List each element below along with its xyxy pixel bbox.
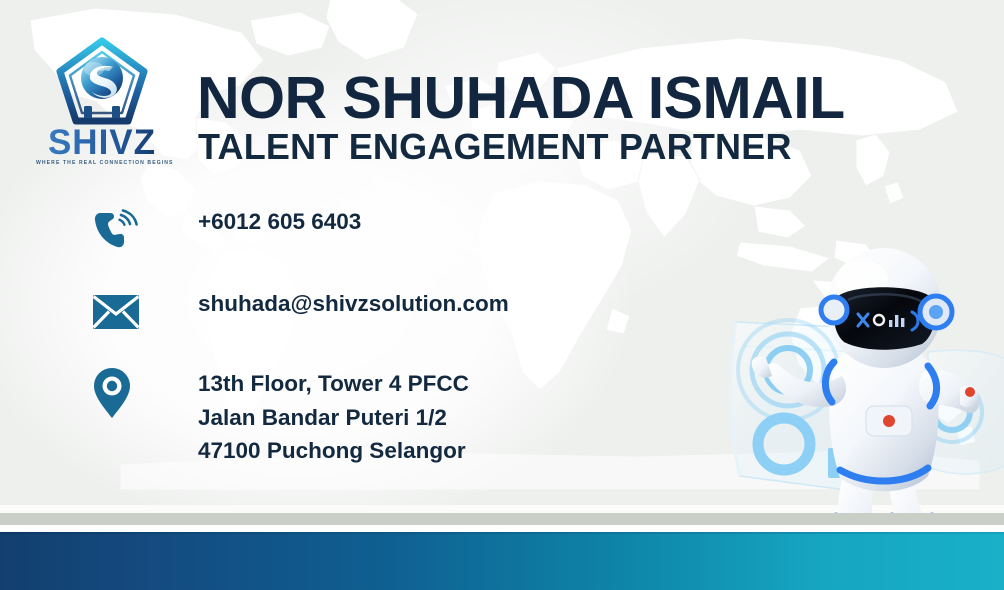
footer-gradient-bar bbox=[0, 532, 1004, 590]
contact-details: +6012 605 6403 shuhada@shivzsolution.com bbox=[92, 205, 712, 477]
contact-name: NOR SHUHADA ISMAIL bbox=[197, 69, 845, 128]
footer-gradient-highlight bbox=[0, 532, 1004, 534]
envelope-icon bbox=[92, 287, 152, 337]
phone-ringing-icon bbox=[92, 205, 152, 257]
address-line-3: 47100 Puchong Selangor bbox=[152, 434, 469, 468]
map-pin-icon bbox=[92, 367, 152, 419]
address-line-2: Jalan Bandar Puteri 1/2 bbox=[152, 401, 469, 435]
logo-wordmark: SHIVZ bbox=[36, 128, 168, 158]
phone-number: +6012 605 6403 bbox=[152, 205, 361, 238]
accent-bar-gap bbox=[0, 525, 1004, 532]
email-address: shuhada@shivzsolution.com bbox=[152, 287, 509, 320]
contact-role: TALENT ENGAGEMENT PARTNER bbox=[198, 129, 792, 165]
pentagon-sphere-s-logo-icon bbox=[56, 36, 148, 128]
business-card: SHIVZ WHERE THE REAL CONNECTION BEGINS N… bbox=[0, 0, 1004, 590]
accent-bar-sage bbox=[0, 513, 1004, 525]
contact-row-phone[interactable]: +6012 605 6403 bbox=[92, 205, 712, 287]
logo-tagline: WHERE THE REAL CONNECTION BEGINS bbox=[36, 160, 168, 166]
contact-row-email[interactable]: shuhada@shivzsolution.com bbox=[92, 287, 712, 367]
contact-row-address[interactable]: 13th Floor, Tower 4 PFCC Jalan Bandar Pu… bbox=[92, 367, 712, 477]
address-line-1: 13th Floor, Tower 4 PFCC bbox=[152, 367, 469, 401]
address-block: 13th Floor, Tower 4 PFCC Jalan Bandar Pu… bbox=[152, 367, 469, 468]
company-logo: SHIVZ WHERE THE REAL CONNECTION BEGINS bbox=[36, 36, 168, 166]
